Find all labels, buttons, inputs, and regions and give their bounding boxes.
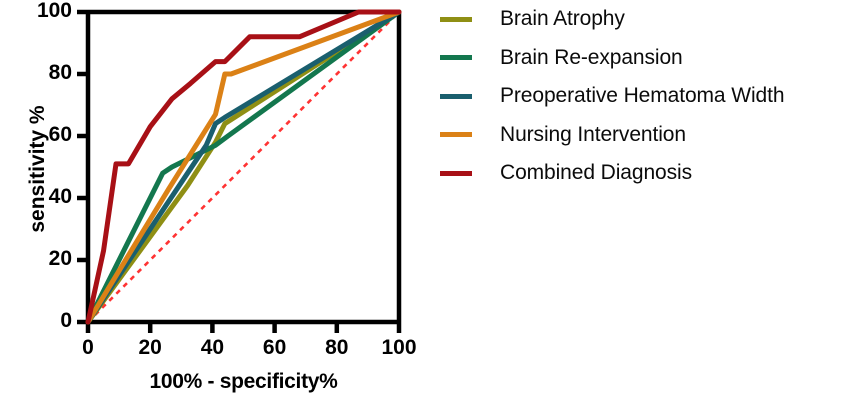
y-tick-label-80: 80 <box>12 61 72 85</box>
x-tick-label-20: 20 <box>120 336 180 360</box>
legend-item-brain-re-expansion[interactable]: Brain Re-expansion <box>440 39 683 77</box>
y-tick-label-40: 40 <box>12 185 72 209</box>
x-tick-label-80: 80 <box>307 336 367 360</box>
legend-item-brain-atrophy[interactable]: Brain Atrophy <box>440 0 625 38</box>
x-tick-label-100: 100 <box>369 336 429 360</box>
legend-item-combined-diagnosis[interactable]: Combined Diagnosis <box>440 154 692 192</box>
legend-swatch-icon <box>440 171 472 176</box>
roc-curve-figure: 100% - specificity% sensitivity % 020406… <box>0 0 851 407</box>
reference-diagonal-line <box>88 12 399 322</box>
x-axis-title: 100% - specificity% <box>88 370 399 394</box>
legend-swatch-icon <box>440 94 472 99</box>
legend-label: Brain Re-expansion <box>500 46 683 70</box>
x-tick-label-0: 0 <box>58 336 118 360</box>
legend: Brain AtrophyBrain Re-expansionPreoperat… <box>440 0 851 200</box>
legend-swatch-icon <box>440 55 472 60</box>
legend-item-preoperative-hematoma-width[interactable]: Preoperative Hematoma Width <box>440 77 784 115</box>
legend-item-nursing-intervention[interactable]: Nursing Intervention <box>440 116 686 154</box>
x-tick-label-60: 60 <box>245 336 305 360</box>
y-tick-label-100: 100 <box>12 0 72 23</box>
legend-label: Combined Diagnosis <box>500 161 692 185</box>
y-tick-label-60: 60 <box>12 123 72 147</box>
legend-label: Nursing Intervention <box>500 123 686 147</box>
legend-label: Brain Atrophy <box>500 7 625 31</box>
legend-swatch-icon <box>440 132 472 137</box>
y-tick-label-20: 20 <box>12 247 72 271</box>
legend-swatch-icon <box>440 17 472 22</box>
legend-label: Preoperative Hematoma Width <box>500 84 784 108</box>
y-tick-label-0: 0 <box>12 309 72 333</box>
x-tick-label-40: 40 <box>182 336 242 360</box>
